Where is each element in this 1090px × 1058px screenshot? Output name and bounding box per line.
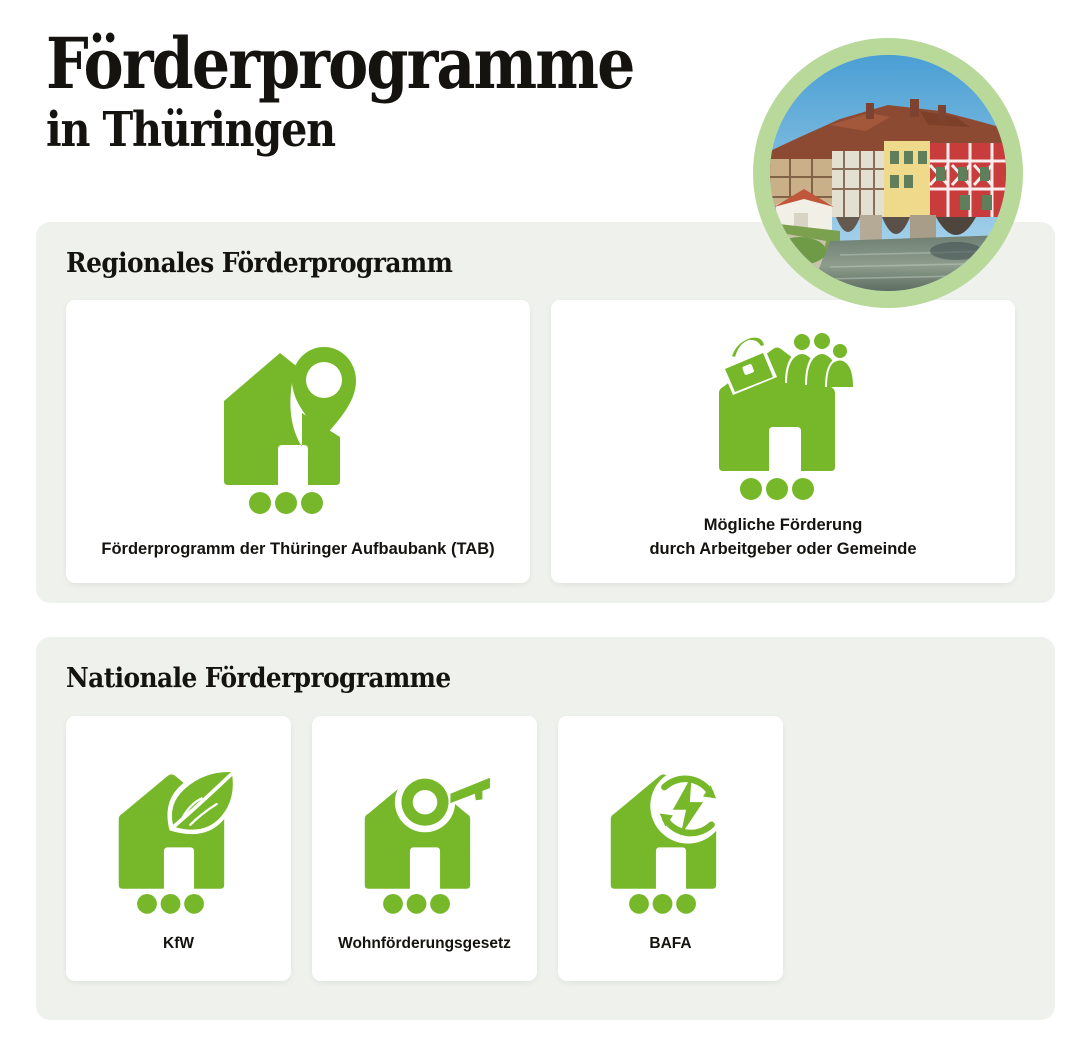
card-bafa[interactable]: BAFA — [558, 716, 783, 981]
icon-container — [558, 740, 783, 933]
card-list-national: KfW — [66, 716, 783, 981]
three-dots — [740, 478, 814, 500]
three-dots — [137, 893, 204, 913]
icon-container — [66, 318, 530, 538]
page-title: Förderprogramme — [46, 28, 634, 99]
house-briefcase-people-icon — [707, 327, 859, 505]
three-dots — [629, 893, 696, 913]
card-list-regional: Förderprogramm der Thüringer Aufbaubank … — [66, 300, 1015, 583]
card-arbeitgeber-gemeinde[interactable]: Mögliche Förderung durch Arbeitgeber ode… — [551, 300, 1015, 583]
photo-illustration — [770, 55, 1006, 291]
house-energy-icon — [604, 757, 738, 917]
card-label: BAFA — [635, 933, 705, 981]
infographic-page: Förderprogramme in Thüringen — [0, 0, 1090, 1058]
icon-container — [551, 318, 1015, 514]
house-leaf-icon — [112, 757, 246, 917]
card-wohnfoerderungsgesetz[interactable]: Wohnförderungsgesetz — [312, 716, 537, 981]
house-map-pin-icon — [222, 339, 374, 517]
kraemerbruecke-erfurt-photo — [770, 55, 1006, 291]
card-label: Mögliche Förderung durch Arbeitgeber ode… — [635, 514, 930, 583]
photo-ring — [753, 38, 1023, 308]
header: Förderprogramme in Thüringen — [46, 28, 729, 156]
card-kfw[interactable]: KfW — [66, 716, 291, 981]
section-national: Nationale Förderprogramme — [36, 637, 1055, 1020]
section-heading-national: Nationale Förderprogramme — [66, 663, 451, 694]
icon-container — [312, 740, 537, 933]
card-label: Förderprogramm der Thüringer Aufbaubank … — [87, 538, 508, 583]
icon-container — [66, 740, 291, 933]
card-label: KfW — [149, 933, 208, 981]
card-label: Wohnförderungsgesetz — [324, 933, 525, 981]
three-dots — [249, 492, 323, 514]
page-subtitle: in Thüringen — [46, 105, 634, 155]
card-tab[interactable]: Förderprogramm der Thüringer Aufbaubank … — [66, 300, 530, 583]
section-heading-regional: Regionales Förderprogramm — [66, 248, 452, 279]
three-dots — [383, 893, 450, 913]
house-key-icon — [358, 757, 492, 917]
